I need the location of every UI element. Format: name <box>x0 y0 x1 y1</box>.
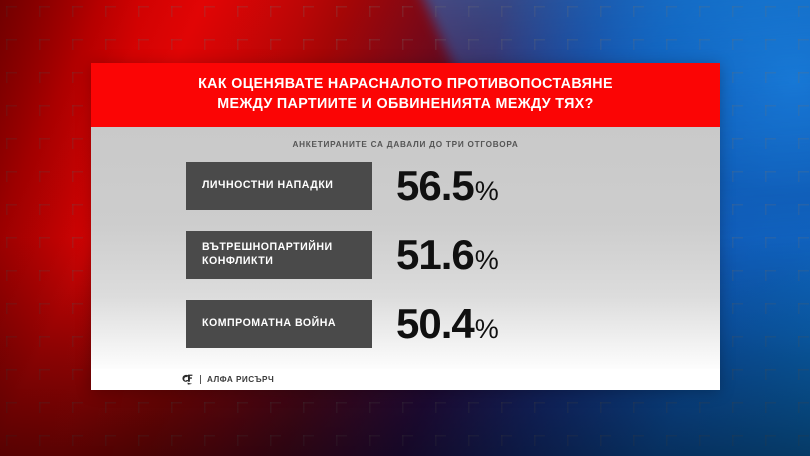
logo-divider <box>200 375 201 384</box>
alfa-research-logo-icon <box>181 374 194 385</box>
bar-label-line-2: КОНФЛИКТИ <box>202 255 333 268</box>
bar-value: 51.6 % <box>396 234 499 276</box>
table-row: ВЪТРЕШНОПАРТИЙНИ КОНФЛИКТИ 51.6 % <box>91 231 720 279</box>
bar-label: ВЪТРЕШНОПАРТИЙНИ КОНФЛИКТИ <box>202 241 333 267</box>
bar-value-number: 50.4 <box>396 303 474 345</box>
alfa-research-logo: АЛФА РИСЪРЧ <box>181 374 274 385</box>
bar-value: 50.4 % <box>396 303 499 345</box>
chart-subtitle: АНКЕТИРАНИТЕ СА ДАВАЛИ ДО ТРИ ОТГОВОРА <box>91 127 720 149</box>
percent-sign: % <box>475 316 499 343</box>
bar-rows: ЛИЧНОСТНИ НАПАДКИ 56.5 % ВЪТРЕШНОПАРТИЙН… <box>91 149 720 369</box>
bar-value-number: 51.6 <box>396 234 474 276</box>
bar-label: КОМПРОМАТНА ВОЙНА <box>202 317 336 330</box>
percent-sign: % <box>475 178 499 205</box>
table-row: ЛИЧНОСТНИ НАПАДКИ 56.5 % <box>91 162 720 210</box>
bar-value: 56.5 % <box>396 165 499 207</box>
card-body: АНКЕТИРАНИТЕ СА ДАВАЛИ ДО ТРИ ОТГОВОРА Л… <box>91 127 720 369</box>
bar-label-line-1: ЛИЧНОСТНИ НАПАДКИ <box>202 179 333 192</box>
page-title-line-2: МЕЖДУ ПАРТИИТЕ И ОБВИНЕНИЯТА МЕЖДУ ТЯХ? <box>105 94 706 114</box>
bar-label-box: ВЪТРЕШНОПАРТИЙНИ КОНФЛИКТИ <box>186 231 372 279</box>
bar-label-box: КОМПРОМАТНА ВОЙНА <box>186 300 372 348</box>
bar-value-number: 56.5 <box>396 165 474 207</box>
bar-label-box: ЛИЧНОСТНИ НАПАДКИ <box>186 162 372 210</box>
logo-text: АЛФА РИСЪРЧ <box>207 375 274 384</box>
page-title-line-1: КАК ОЦЕНЯВАТЕ НАРАСНАЛОТО ПРОТИВОПОСТАВЯ… <box>105 74 706 94</box>
card-header: КАК ОЦЕНЯВАТЕ НАРАСНАЛОТО ПРОТИВОПОСТАВЯ… <box>91 63 720 127</box>
poll-result-card: КАК ОЦЕНЯВАТЕ НАРАСНАЛОТО ПРОТИВОПОСТАВЯ… <box>91 63 720 390</box>
table-row: КОМПРОМАТНА ВОЙНА 50.4 % <box>91 300 720 348</box>
percent-sign: % <box>475 247 499 274</box>
bar-label: ЛИЧНОСТНИ НАПАДКИ <box>202 179 333 192</box>
card-footer: АЛФА РИСЪРЧ <box>91 369 720 390</box>
bar-label-line-1: КОМПРОМАТНА ВОЙНА <box>202 317 336 330</box>
bar-label-line-1: ВЪТРЕШНОПАРТИЙНИ <box>202 241 333 254</box>
infographic-stage: КАК ОЦЕНЯВАТЕ НАРАСНАЛОТО ПРОТИВОПОСТАВЯ… <box>0 0 810 456</box>
